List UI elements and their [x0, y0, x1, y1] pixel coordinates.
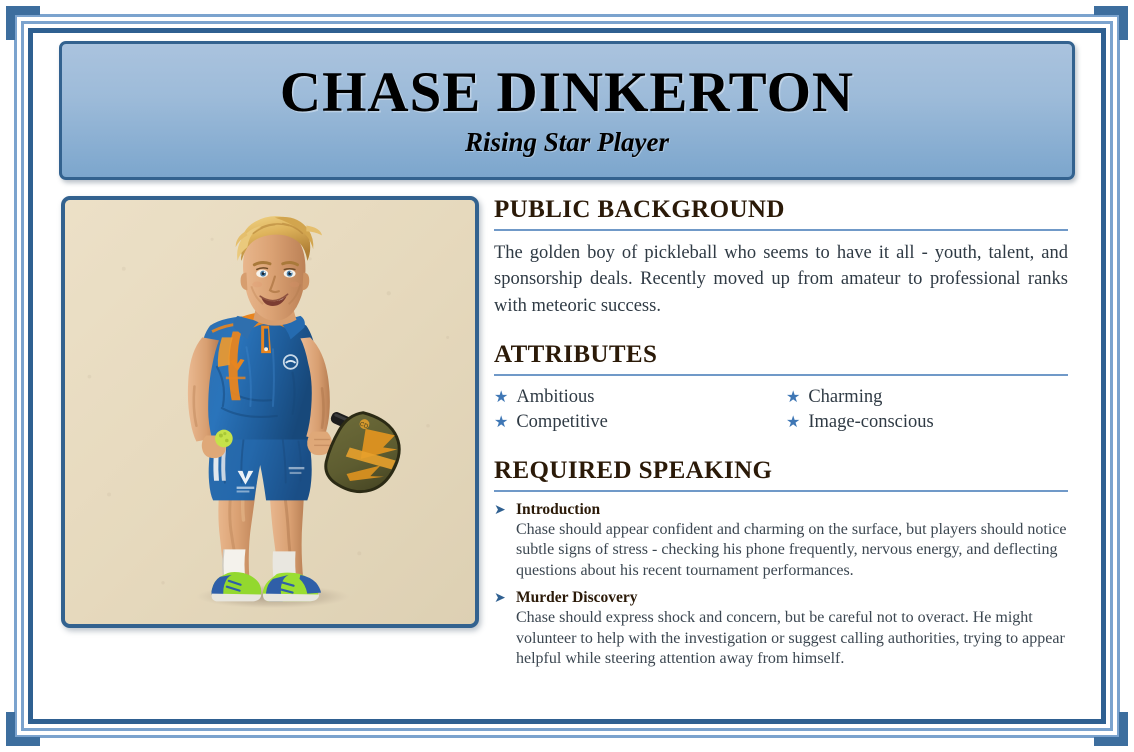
section-required-speaking: REQUIRED SPEAKING ➤ Introduction Chase s… — [494, 457, 1068, 671]
attribute-item: ★ Charming — [786, 385, 1068, 409]
character-header-banner: CHASE DINKERTON Rising Star Player — [59, 41, 1075, 180]
public-background-text: The golden boy of pickleball who seems t… — [494, 240, 1068, 319]
star-icon: ★ — [786, 412, 800, 433]
attribute-item: ★ Ambitious — [494, 385, 776, 409]
section-divider — [494, 229, 1068, 231]
character-card: CHASE DINKERTON Rising Star Player — [33, 33, 1101, 719]
arrow-bullet-icon: ➤ — [494, 590, 506, 608]
frame-rule-top-middle — [21, 21, 1113, 24]
speaking-cue-item: ➤ Introduction Chase should appear confi… — [494, 501, 1068, 582]
attribute-label: Image-conscious — [808, 410, 933, 434]
speaking-cue-item: ➤ Murder Discovery Chase should express … — [494, 589, 1068, 670]
details-column: PUBLIC BACKGROUND The golden boy of pick… — [478, 188, 1101, 719]
frame-rule-right-middle — [1110, 21, 1113, 731]
section-divider — [494, 374, 1068, 376]
frame-rule-right-outer — [1117, 14, 1120, 738]
attribute-item: ★ Image-conscious — [786, 410, 1068, 434]
attributes-grid: ★ Ambitious ★ Charming ★ Competitive ★ I… — [494, 385, 1068, 435]
section-title-attributes: ATTRIBUTES — [494, 341, 1068, 369]
frame-rule-left-middle — [21, 21, 24, 731]
character-role-subtitle: Rising Star Player — [465, 127, 669, 158]
section-title-required-speaking: REQUIRED SPEAKING — [494, 457, 1068, 485]
page-title: CHASE DINKERTON — [280, 63, 854, 123]
attribute-label: Charming — [808, 385, 882, 409]
section-public-background: PUBLIC BACKGROUND The golden boy of pick… — [494, 196, 1068, 319]
character-portrait-illustration: CD — [65, 200, 475, 624]
section-title-public-background: PUBLIC BACKGROUND — [494, 196, 1068, 224]
frame-rule-left-outer — [14, 14, 17, 738]
character-portrait: CD — [61, 196, 479, 628]
portrait-column: CD — [33, 188, 478, 719]
frame-rule-bottom-outer — [14, 735, 1120, 738]
frame-rule-top-outer — [14, 14, 1120, 17]
card-body: CD — [33, 188, 1101, 719]
section-attributes: ATTRIBUTES ★ Ambitious ★ Charming ★ Comp… — [494, 341, 1068, 435]
section-divider — [494, 490, 1068, 492]
speaking-cue-text: Chase should appear confident and charmi… — [516, 520, 1068, 582]
speaking-cue-label: Introduction — [516, 501, 1068, 520]
speaking-cue-text: Chase should express shock and concern, … — [516, 608, 1068, 670]
star-icon: ★ — [786, 387, 800, 408]
speaking-cue-label: Murder Discovery — [516, 589, 1068, 608]
frame-rule-bottom-inner — [28, 719, 1106, 724]
frame-rule-bottom-middle — [21, 728, 1113, 731]
star-icon: ★ — [494, 387, 508, 408]
attribute-label: Competitive — [516, 410, 607, 434]
arrow-bullet-icon: ➤ — [494, 502, 506, 520]
attribute-label: Ambitious — [516, 385, 594, 409]
frame-rule-right-inner — [1101, 28, 1106, 724]
star-icon: ★ — [494, 412, 508, 433]
attribute-item: ★ Competitive — [494, 410, 776, 434]
